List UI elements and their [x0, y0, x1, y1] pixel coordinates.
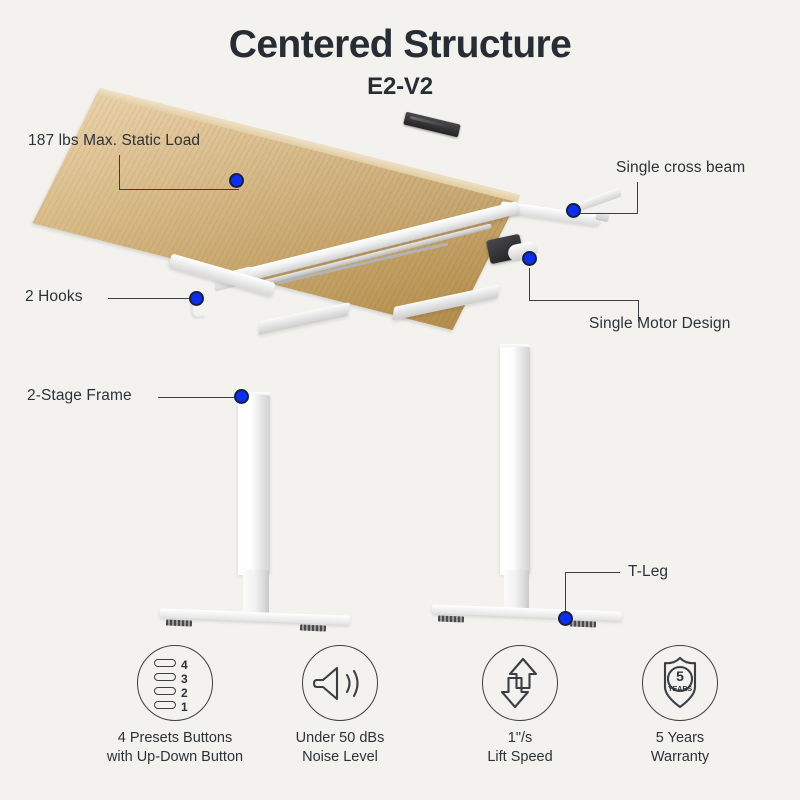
- callout-motor-dot: [522, 251, 537, 266]
- preset-number-2: 2: [181, 688, 188, 699]
- right-foot-pad-front: [438, 616, 464, 623]
- callout-cross-beam-label: Single cross beam: [616, 159, 745, 177]
- feature-noise-line2: Noise Level: [240, 748, 440, 767]
- feature-warranty-line2: Warranty: [580, 748, 780, 767]
- callout-cross-beam-dot: [566, 203, 581, 218]
- feature-row: 4 3 2 1 4 Presets Buttons with Up-Down B…: [0, 645, 800, 795]
- right-foot-pad-rear: [570, 621, 596, 628]
- feature-noise: Under 50 dBs Noise Level: [240, 645, 440, 767]
- left-foot-pad-rear: [300, 625, 326, 632]
- preset-number-1: 1: [181, 702, 188, 713]
- speaker-icon: [302, 645, 378, 721]
- callout-motor-leader-v1: [529, 268, 530, 301]
- callout-static-load-leader-h: [119, 189, 239, 190]
- preset-buttons-icon: 4 3 2 1: [137, 645, 213, 721]
- control-keypad: [403, 112, 460, 138]
- left-leg-stage1: [238, 395, 270, 575]
- left-foot-pad-front: [166, 620, 192, 627]
- feature-noise-line1: Under 50 dBs: [240, 729, 440, 748]
- callout-static-load-label: 187 lbs Max. Static Load: [28, 132, 200, 150]
- callout-motor-leader-v2: [638, 300, 639, 322]
- callout-motor-label: Single Motor Design: [589, 315, 730, 333]
- callout-stage-frame-leader-h: [158, 397, 236, 398]
- shield-number: 5: [676, 668, 684, 684]
- callout-cross-beam-leader-v: [637, 182, 638, 214]
- preset-number-3: 3: [181, 674, 188, 685]
- callout-t-leg-label: T-Leg: [628, 563, 668, 581]
- callout-static-load-dot: [229, 173, 244, 188]
- callout-stage-frame-label: 2-Stage Frame: [27, 387, 132, 405]
- callout-motor-leader-h: [529, 300, 639, 301]
- callout-hooks-leader-h: [108, 298, 192, 299]
- callout-hooks-label: 2 Hooks: [25, 288, 83, 306]
- right-leg-stage1: [500, 347, 530, 575]
- infographic-canvas: Centered Structure E2-V2: [0, 0, 800, 800]
- callout-cross-beam-leader-h: [580, 213, 638, 214]
- left-leg-stage2: [243, 570, 269, 615]
- callout-stage-frame-dot: [234, 389, 249, 404]
- cover-plate-left: [258, 302, 350, 335]
- callout-static-load-leader-v: [119, 155, 120, 190]
- callout-t-leg-dot: [558, 611, 573, 626]
- callout-hooks-dot: [189, 291, 204, 306]
- up-down-arrows-icon: [482, 645, 558, 721]
- callout-t-leg-leader-h: [565, 572, 620, 573]
- preset-number-4: 4: [181, 660, 188, 671]
- feature-warranty: 5 YEARS 5 Years Warranty: [580, 645, 780, 767]
- shield-icon: 5 YEARS: [642, 645, 718, 721]
- feature-warranty-line1: 5 Years: [580, 729, 780, 748]
- shield-unit: YEARS: [668, 686, 692, 693]
